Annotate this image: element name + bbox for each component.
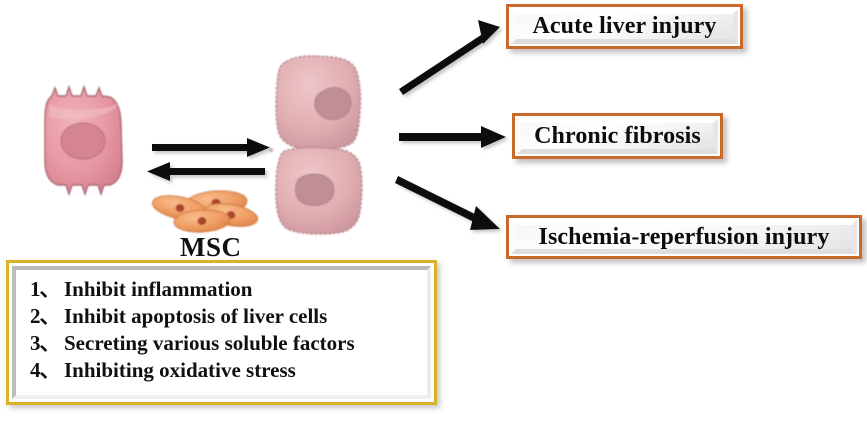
hepatocyte-pair-nucleus-lower <box>296 174 335 205</box>
diagram-canvas: Acute liver injury Chronic fibrosis Isch… <box>0 0 867 422</box>
list-item-label: Inhibit inflammation <box>64 276 252 303</box>
list-item-number: 4、 <box>30 357 64 384</box>
list-item: 2、 Inhibit apoptosis of liver cells <box>30 303 423 330</box>
msc-label: MSC <box>180 232 242 263</box>
arrow-forward-differentiation <box>152 138 270 157</box>
list-item-number: 1、 <box>30 276 64 303</box>
arrow-to-chronic-fibrosis <box>399 126 506 148</box>
outcome-box-chronic-fibrosis[interactable]: Chronic fibrosis <box>512 113 723 159</box>
outcome-label-chronic-fibrosis: Chronic fibrosis <box>534 123 701 150</box>
list-item-label: Inhibit apoptosis of liver cells <box>64 303 327 330</box>
list-item: 4、 Inhibiting oxidative stress <box>30 357 423 384</box>
list-item: 1、 Inhibit inflammation <box>30 276 423 303</box>
outcome-label-acute-liver-injury: Acute liver injury <box>533 13 717 40</box>
list-item-label: Inhibiting oxidative stress <box>64 357 296 384</box>
outcome-box-acute-liver-injury[interactable]: Acute liver injury <box>506 4 743 49</box>
outcome-box-inner: Acute liver injury <box>511 9 738 44</box>
list-item-number: 3、 <box>30 330 64 357</box>
mechanisms-list-frame: 1、 Inhibit inflammation 2、 Inhibit apopt… <box>12 266 431 399</box>
outcome-box-ischemia-reperfusion-injury[interactable]: Ischemia-reperfusion injury <box>506 215 862 259</box>
arrow-to-acute-liver-injury <box>399 20 500 95</box>
arrow-to-ischemia-reperfusion-injury <box>395 176 500 230</box>
outcome-label-ischemia-reperfusion-injury: Ischemia-reperfusion injury <box>539 224 830 251</box>
msc-cell-cluster <box>150 189 259 234</box>
list-item-number: 2、 <box>30 303 64 330</box>
hepatocyte-single-cell <box>45 87 122 194</box>
arrow-reverse-differentiation <box>147 162 265 181</box>
list-item-label: Secreting various soluble factors <box>64 330 355 357</box>
hepatocyte-nucleus <box>61 123 105 159</box>
outcome-box-inner: Chronic fibrosis <box>517 118 718 154</box>
hepatocyte-pair-cells <box>269 56 362 234</box>
list-item: 3、 Secreting various soluble factors <box>30 330 423 357</box>
mechanisms-list-box: 1、 Inhibit inflammation 2、 Inhibit apopt… <box>6 260 437 405</box>
outcome-box-inner: Ischemia-reperfusion injury <box>511 220 857 254</box>
